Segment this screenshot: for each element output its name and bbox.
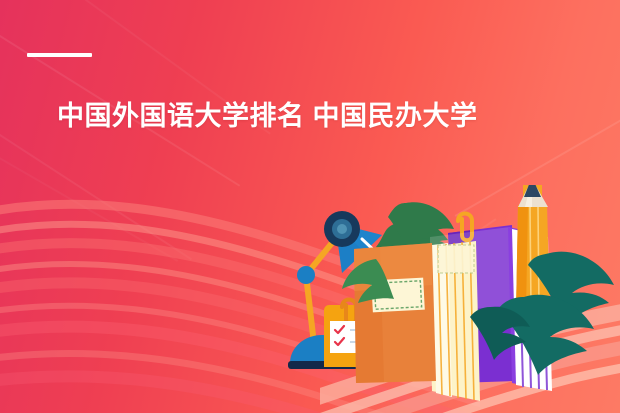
page-title: 中国外国语大学排名 中国民办大学 bbox=[57, 100, 478, 134]
article-banner: 中国外国语大学排名 中国民办大学 bbox=[0, 0, 620, 413]
study-illustration bbox=[280, 185, 620, 413]
lamp-joint bbox=[297, 266, 315, 284]
pencil bbox=[516, 185, 550, 311]
accent-dash bbox=[27, 53, 92, 57]
